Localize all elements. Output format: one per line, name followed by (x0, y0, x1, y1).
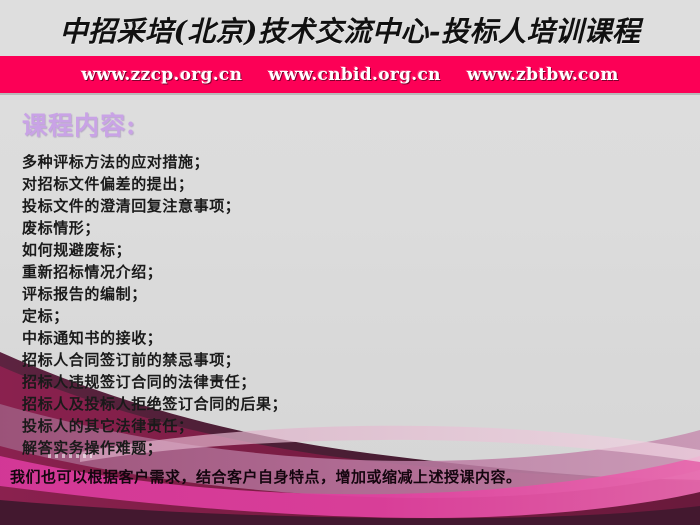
course-content-list: 多种评标方法的应对措施； 对招标文件偏差的提出； 投标文件的澄清回复注意事项； … (22, 151, 462, 459)
list-item: 废标情形； (22, 217, 462, 239)
url-link-cnbid[interactable]: www.cnbid.org.cn (268, 65, 441, 85)
list-item: 投标人的其它法律责任； (22, 415, 462, 437)
content-heading: 课程内容: (22, 106, 136, 142)
list-item: 中标通知书的接收； (22, 327, 462, 349)
list-item: 多种评标方法的应对措施； (22, 151, 462, 173)
list-item: 重新招标情况介绍； (22, 261, 462, 283)
list-item: 投标文件的澄清回复注意事项； (22, 195, 462, 217)
list-item: 招标人违规签订合同的法律责任； (22, 371, 462, 393)
page-title: 中招采培(北京)技术交流中心-投标人培训课程 (59, 10, 640, 50)
presentation-slide: 中招采培(北京)技术交流中心-投标人培训课程 www.zzcp.org.cn w… (0, 0, 700, 525)
url-link-zzcp[interactable]: www.zzcp.org.cn (81, 65, 242, 85)
band-underline-rule (0, 93, 700, 95)
list-item: 评标报告的编制； (22, 283, 462, 305)
list-item: 招标人合同签订前的禁忌事项； (22, 349, 462, 371)
list-item: 招标人及投标人拒绝签订合同的后果； (22, 393, 462, 415)
url-link-zbtbw[interactable]: www.zbtbw.com (467, 65, 619, 85)
footer-note: 我们也可以根据客户需求，结合客户自身特点，增加或缩减上述授课内容。 (10, 466, 522, 487)
website-url-band: www.zzcp.org.cn www.cnbid.org.cn www.zbt… (0, 56, 700, 93)
dotted-artifact (48, 454, 92, 458)
list-item: 对招标文件偏差的提出； (22, 173, 462, 195)
slide-title-container: 中招采培(北京)技术交流中心-投标人培训课程 (0, 6, 700, 54)
list-item: 如何规避废标； (22, 239, 462, 261)
list-item: 定标； (22, 305, 462, 327)
url-list: www.zzcp.org.cn www.cnbid.org.cn www.zbt… (81, 65, 618, 85)
